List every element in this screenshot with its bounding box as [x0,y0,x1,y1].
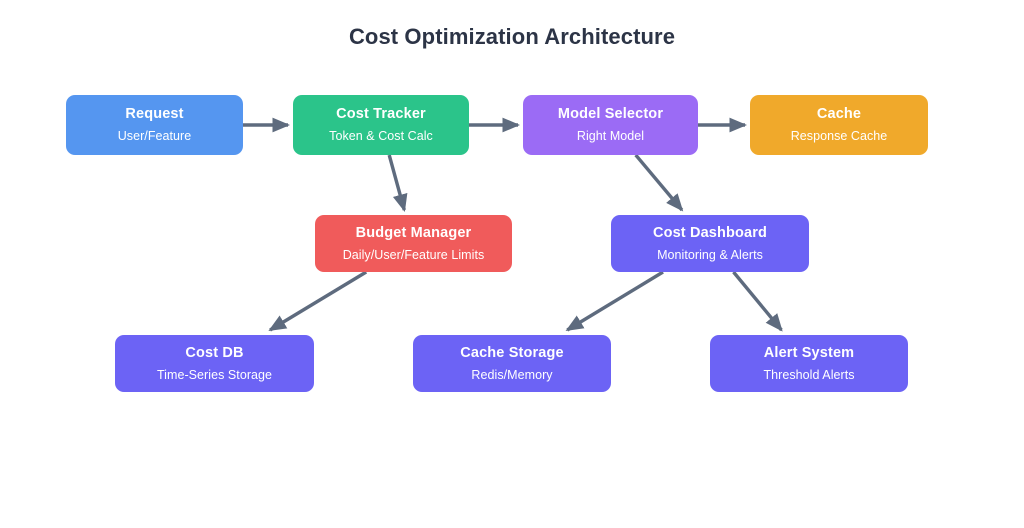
node-subtitle-budget-manager: Daily/User/Feature Limits [343,247,485,263]
edge-model-selector-to-cost-dashboard [636,155,682,210]
node-title-cache: Cache [817,105,861,123]
node-cost-tracker[interactable]: Cost Tracker Token & Cost Calc [293,95,469,155]
node-cost-db[interactable]: Cost DB Time-Series Storage [115,335,314,392]
edge-cost-dashboard-to-alert-system [734,272,782,330]
node-title-cost-db: Cost DB [185,344,243,362]
node-subtitle-cache: Response Cache [791,128,888,144]
node-alert-system[interactable]: Alert System Threshold Alerts [710,335,908,392]
node-model-selector[interactable]: Model Selector Right Model [523,95,698,155]
node-title-alert-system: Alert System [764,344,854,362]
edge-cost-dashboard-to-cache-storage [567,272,663,330]
node-subtitle-cost-dashboard: Monitoring & Alerts [657,247,763,263]
node-subtitle-cost-tracker: Token & Cost Calc [329,128,433,144]
edge-cost-tracker-to-budget-manager [389,155,404,210]
node-title-model-selector: Model Selector [558,105,663,123]
node-title-cache-storage: Cache Storage [460,344,564,362]
page-title: Cost Optimization Architecture [0,24,1024,50]
edge-budget-manager-to-cost-db [270,272,366,330]
node-subtitle-cache-storage: Redis/Memory [471,367,552,383]
node-request[interactable]: Request User/Feature [66,95,243,155]
node-subtitle-model-selector: Right Model [577,128,644,144]
node-subtitle-alert-system: Threshold Alerts [763,367,854,383]
node-cache-storage[interactable]: Cache Storage Redis/Memory [413,335,611,392]
diagram-canvas: Cost Optimization Architecture Request U… [0,0,1024,528]
node-title-cost-tracker: Cost Tracker [336,105,426,123]
node-subtitle-request: User/Feature [118,128,192,144]
node-title-cost-dashboard: Cost Dashboard [653,224,767,242]
node-title-request: Request [125,105,183,123]
connector-layer [0,0,1024,528]
node-cache[interactable]: Cache Response Cache [750,95,928,155]
node-budget-manager[interactable]: Budget Manager Daily/User/Feature Limits [315,215,512,272]
node-subtitle-cost-db: Time-Series Storage [157,367,272,383]
node-title-budget-manager: Budget Manager [356,224,472,242]
node-cost-dashboard[interactable]: Cost Dashboard Monitoring & Alerts [611,215,809,272]
